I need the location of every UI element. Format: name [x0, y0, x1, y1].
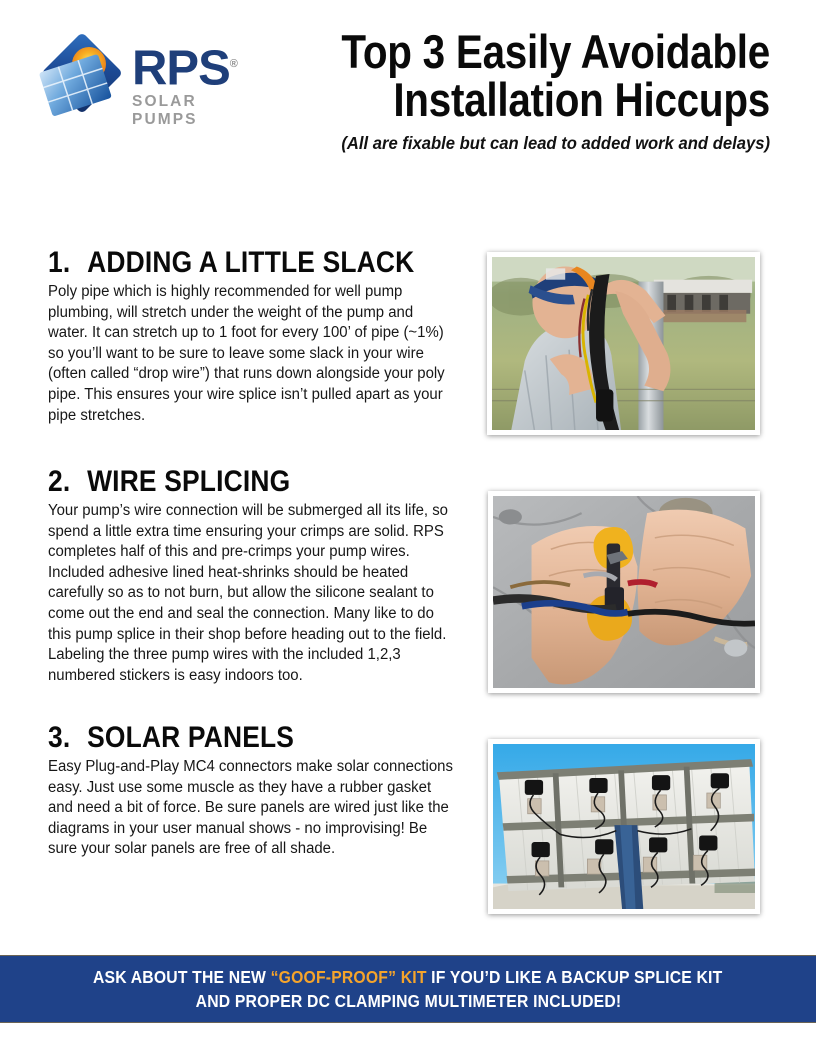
section-3-heading-label: SOLAR PANELS [87, 721, 294, 754]
section-3-body: Easy Plug-and-Play MC4 connectors make s… [48, 757, 455, 860]
footer-line-2: AND PROPER DC CLAMPING MULTIMETER INCLUD… [195, 989, 621, 1013]
title-block: Top 3 Easily Avoidable Installation Hicc… [240, 28, 770, 154]
photo-hands-crimping-wire-splice [488, 491, 760, 693]
section-2-heading-label: WIRE SPLICING [87, 465, 290, 498]
section-1-number: 1. [48, 246, 70, 279]
section-1-body: Poly pipe which is highly recommended fo… [48, 282, 455, 426]
section-1-heading-label: ADDING A LITTLE SLACK [87, 246, 414, 279]
section-1-heading: 1.ADDING A LITTLE SLACK [48, 247, 418, 279]
footer-line-1-before: ASK ABOUT THE NEW [93, 967, 271, 987]
photo-installer-holding-poly-pipe [487, 252, 760, 435]
page-title-line-1: Top 3 Easily Avoidable [314, 28, 770, 76]
rps-solar-diamond-logo-icon [36, 28, 128, 120]
registered-trademark-icon: ® [230, 58, 237, 70]
brand-logo: RPS® SOLAR PUMPS [36, 26, 266, 122]
section-3-number: 3. [48, 721, 70, 754]
page-title-line-2: Installation Hiccups [314, 76, 770, 124]
section-2-body: Your pump’s wire connection will be subm… [48, 501, 460, 686]
page-header: RPS® SOLAR PUMPS Top 3 Easily Avoidable … [0, 0, 816, 200]
photo-solar-panel-array-backside [488, 739, 760, 914]
section-3-heading: 3.SOLAR PANELS [48, 722, 418, 754]
footer-promo-banner: ASK ABOUT THE NEW “GOOF-PROOF” KIT IF YO… [0, 955, 816, 1023]
page-subtitle: (All are fixable but can lead to added w… [267, 133, 771, 154]
footer-line-1: ASK ABOUT THE NEW “GOOF-PROOF” KIT IF YO… [93, 965, 722, 989]
section-3-text: 3.SOLAR PANELS Easy Plug-and-Play MC4 co… [48, 722, 468, 860]
footer-goof-proof-kit-highlight: “GOOF-PROOF” KIT [271, 967, 427, 987]
section-2-text: 2.WIRE SPLICING Your pump’s wire connect… [48, 466, 473, 686]
section-2-number: 2. [48, 465, 70, 498]
section-1-text: 1.ADDING A LITTLE SLACK Poly pipe which … [48, 247, 468, 426]
footer-line-1-after: IF YOU’D LIKE A BACKUP SPLICE KIT [427, 967, 723, 987]
section-2-heading: 2.WIRE SPLICING [48, 466, 422, 498]
